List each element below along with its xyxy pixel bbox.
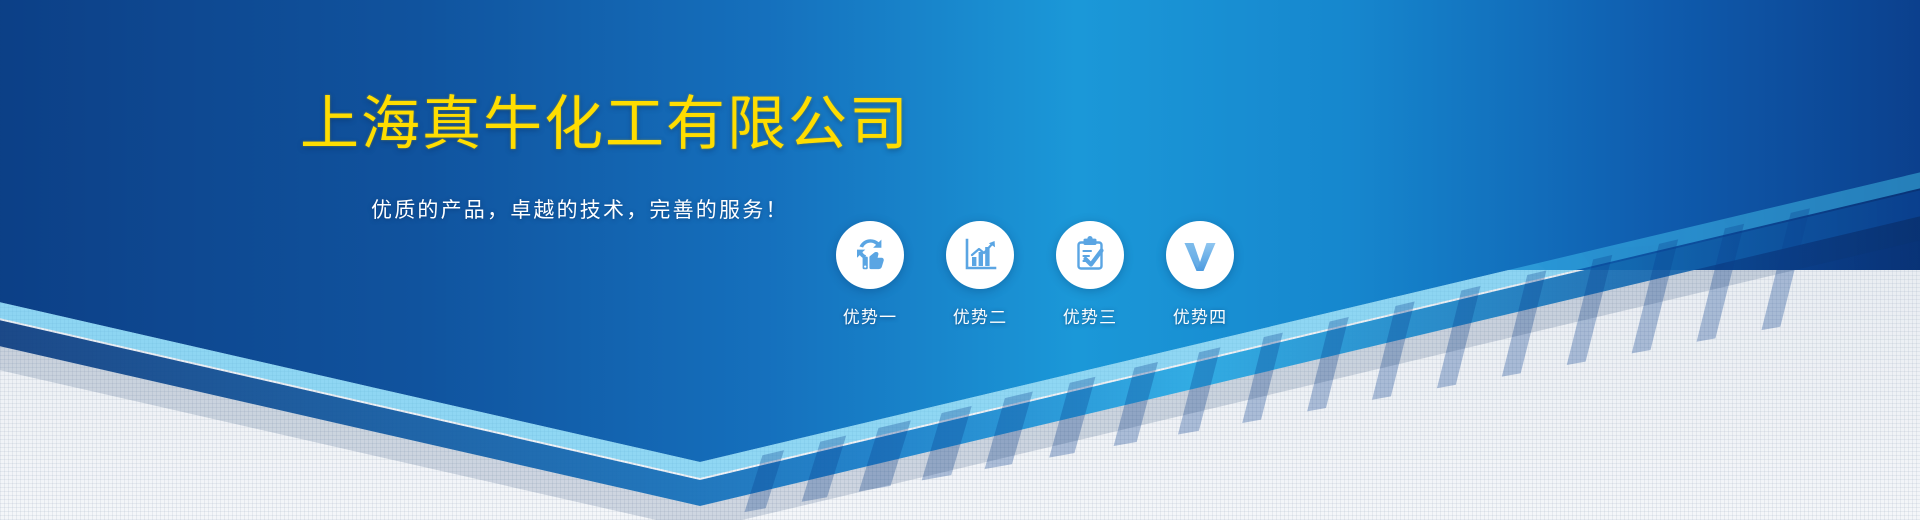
banner-subtitle: 优质的产品，卓越的技术，完善的服务！: [371, 197, 789, 224]
feature-list: 优势一: [836, 221, 1234, 328]
feature-item-2[interactable]: 优势二: [946, 221, 1014, 328]
feature-label-2: 优势二: [953, 303, 1008, 328]
company-hero-banner: 上海真牛化工有限公司 优质的产品，卓越的技术，完善的服务！: [0, 0, 1920, 520]
feature-icon-circle-4: [1166, 221, 1234, 289]
feature-item-3[interactable]: 优势三: [1056, 221, 1124, 328]
feature-label-1: 优势一: [843, 303, 898, 328]
feature-label-3: 优势三: [1063, 303, 1118, 328]
feature-icon-circle-1: [836, 221, 904, 289]
page-title: 上海真牛化工有限公司: [300, 93, 910, 156]
thumbs-up-refresh-icon: [850, 235, 890, 275]
clipboard-check-icon: [1070, 235, 1110, 275]
feature-label-4: 优势四: [1173, 303, 1228, 328]
bar-chart-growth-icon: [960, 235, 1000, 275]
feature-icon-circle-3: [1056, 221, 1124, 289]
feature-item-4[interactable]: 优势四: [1166, 221, 1234, 328]
v-check-icon: [1180, 235, 1220, 275]
feature-item-1[interactable]: 优势一: [836, 221, 904, 328]
feature-icon-circle-2: [946, 221, 1014, 289]
